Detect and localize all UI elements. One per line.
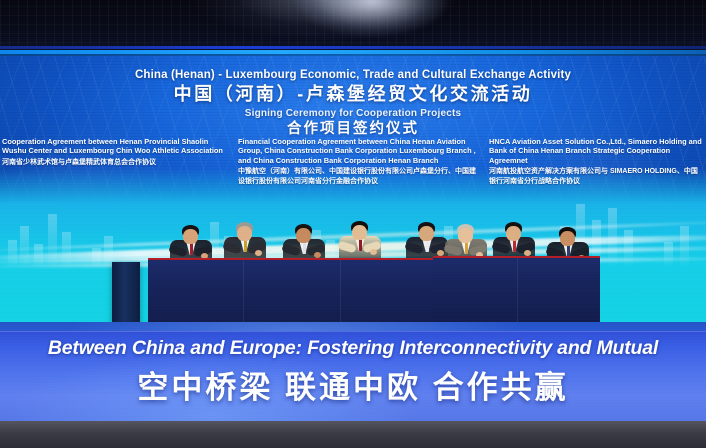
banner-english-text: Between China and Europe: Fostering Inte… (0, 337, 706, 360)
signing-table-left (148, 260, 433, 326)
bottom-led-banner: Between China and Europe: Fostering Inte… (0, 331, 706, 421)
foreground-floor (0, 421, 706, 448)
screenshot-root: China (Henan) - Luxembourg Economic, Tra… (0, 0, 706, 448)
banner-chinese-text: 空中桥梁 联通中欧 合作共赢 (0, 362, 706, 407)
signing-table-right (433, 258, 600, 324)
